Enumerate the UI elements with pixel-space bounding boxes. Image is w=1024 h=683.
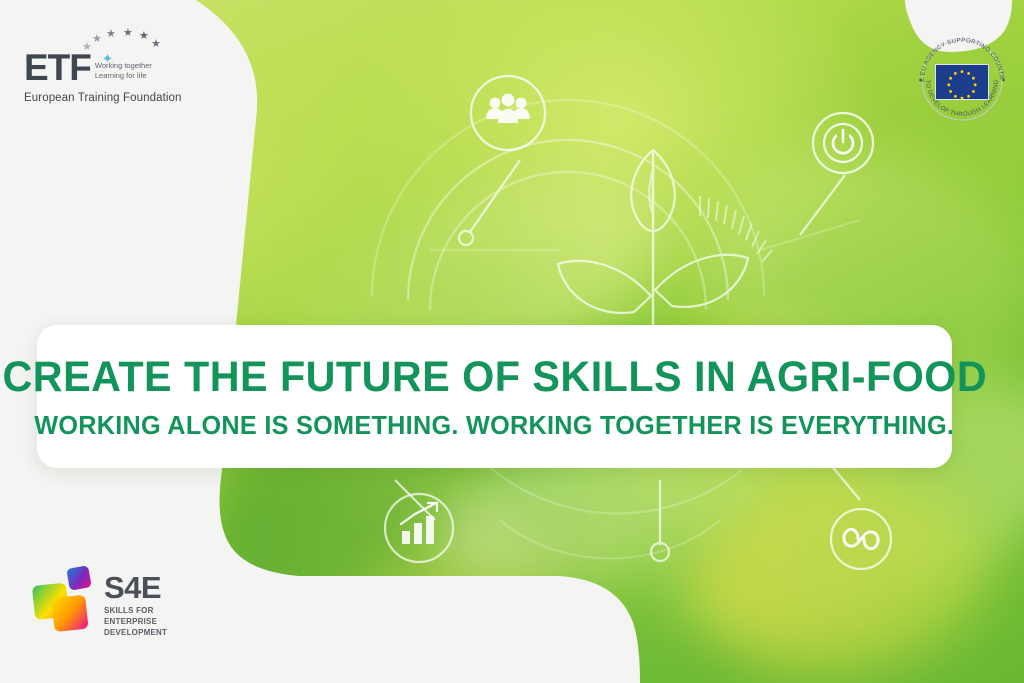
etf-full-name: European Training Foundation	[24, 92, 194, 104]
etf-logo: ★ ★ ★ ★ ★ ★ ETF ✦ Working together Learn…	[24, 28, 194, 104]
headline: CREATE THE FUTURE OF SKILLS IN AGRI-FOOD	[2, 353, 987, 402]
eu-flag-icon	[935, 64, 989, 100]
s4e-subtitle-line3: DEVELOPMENT	[104, 628, 167, 639]
etf-mark: ETF	[24, 50, 91, 85]
etf-mark-row: ETF ✦ Working together Learning for life	[24, 50, 194, 85]
etf-stars: ★ ★ ★ ★ ★ ★	[82, 28, 194, 50]
subheadline: WORKING ALONE IS SOMETHING. WORKING TOGE…	[35, 410, 955, 441]
s4e-subtitle-line2: ENTERPRISE	[104, 617, 167, 628]
eu-badge: THE EU AGENCY SUPPORTING COUNTRIES TO DE…	[914, 32, 1010, 128]
s4e-subtitle-line1: SKILLS FOR	[104, 606, 167, 617]
poster-canvas: CREATE THE FUTURE OF SKILLS IN AGRI-FOOD…	[0, 0, 1024, 683]
etf-accent-star-icon: ✦	[102, 52, 113, 65]
s4e-mark-icon	[32, 565, 94, 637]
s4e-title: S4E	[104, 573, 167, 602]
etf-tagline-line2: Learning for life	[95, 71, 152, 81]
message-card: CREATE THE FUTURE OF SKILLS IN AGRI-FOOD…	[37, 325, 952, 468]
s4e-subtitle: SKILLS FOR ENTERPRISE DEVELOPMENT	[104, 606, 167, 638]
s4e-logo: S4E SKILLS FOR ENTERPRISE DEVELOPMENT	[32, 565, 192, 639]
s4e-text-block: S4E SKILLS FOR ENTERPRISE DEVELOPMENT	[104, 565, 167, 639]
